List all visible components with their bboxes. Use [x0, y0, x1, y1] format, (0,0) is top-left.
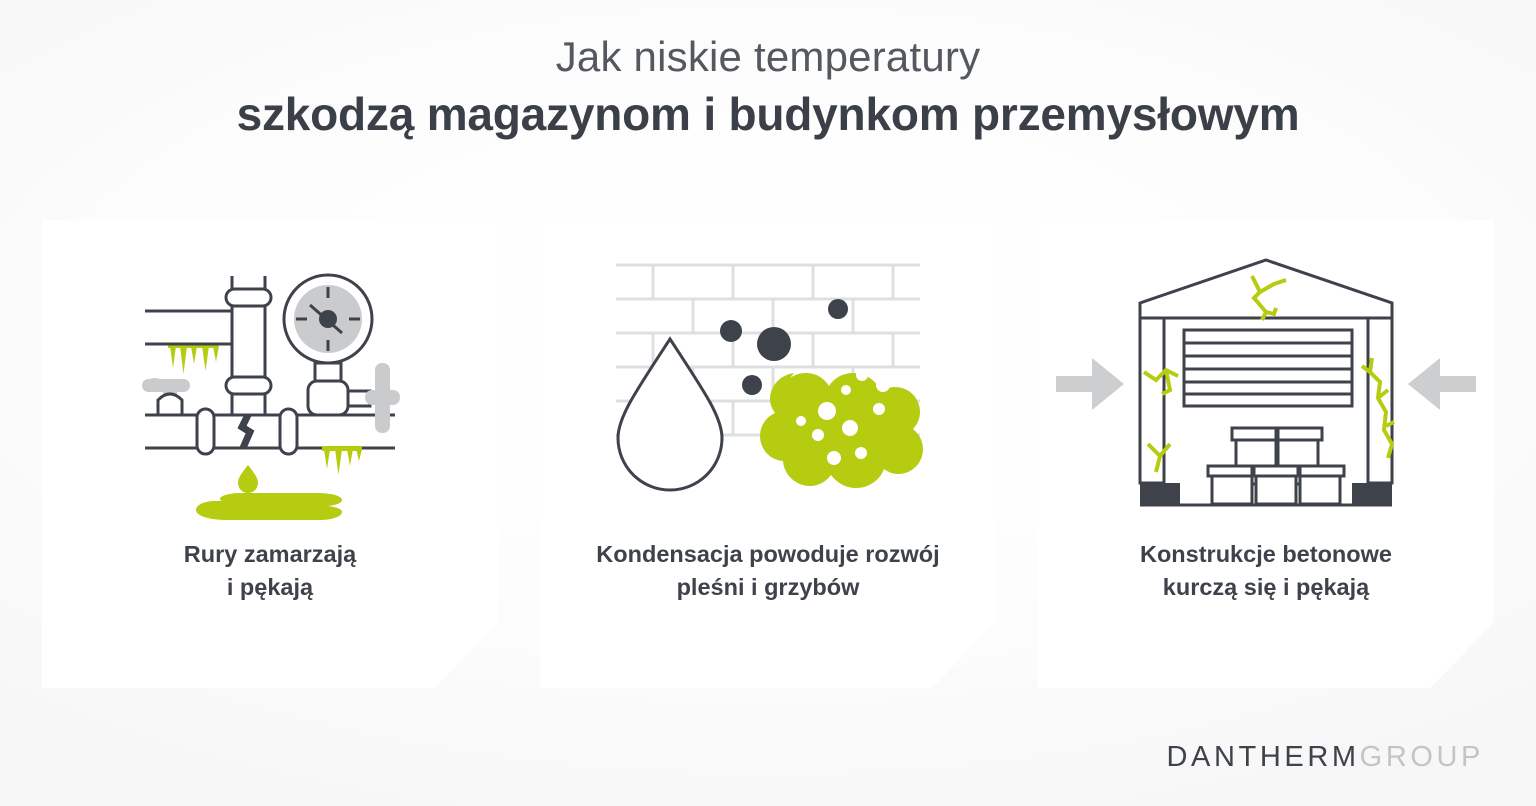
- cracked-warehouse-icon: [1056, 248, 1476, 518]
- water-drop: [238, 465, 258, 493]
- card-frozen-pipes-art: [42, 220, 498, 538]
- mould-on-wall-icon: [598, 253, 938, 513]
- card-frozen-pipes-caption: Rury zamarzają i pękają: [158, 538, 382, 605]
- pressure-gauge-icon: [284, 275, 372, 381]
- caption-line-2: kurczą się i pękają: [1163, 574, 1369, 600]
- compression-arrow-right: [1408, 358, 1476, 410]
- logo-primary-text: DANTHERM: [1167, 741, 1360, 773]
- cards-row: Rury zamarzają i pękają: [42, 220, 1494, 690]
- dantherm-group-logo: DANTHERMGROUP: [1167, 741, 1484, 774]
- page-title-line-1: Jak niskie temperatury: [0, 34, 1536, 80]
- shutter-door: [1184, 330, 1352, 406]
- page-title-line-2: szkodzą magazynom i budynkom przemysłowy…: [0, 86, 1536, 144]
- infographic-canvas: Jak niskie temperatury szkodzą magazynom…: [0, 0, 1536, 806]
- card-condensation-mould-caption: Kondensacja powoduje rozwój pleśni i grz…: [570, 538, 965, 605]
- mould-blob: [760, 369, 923, 488]
- water-droplet-outline: [618, 339, 722, 490]
- caption-line-1: Konstrukcje betonowe: [1140, 541, 1392, 567]
- small-valve: [142, 378, 190, 415]
- card-frozen-pipes[interactable]: Rury zamarzają i pękają: [42, 220, 498, 688]
- caption-line-2: pleśni i grzybów: [677, 574, 860, 600]
- frost-drips-upper: [168, 344, 219, 374]
- card-condensation-mould-art: [540, 220, 996, 538]
- caption-line-1: Rury zamarzają: [184, 541, 356, 567]
- burst-pipe-icon: [120, 243, 420, 523]
- card-concrete-cracking-caption: Konstrukcje betonowe kurczą się i pękają: [1114, 538, 1418, 605]
- pipe-crack: [242, 415, 250, 448]
- card-condensation-mould[interactable]: Kondensacja powoduje rozwój pleśni i grz…: [540, 220, 996, 688]
- water-puddle: [196, 493, 342, 520]
- compression-arrow-left: [1056, 358, 1124, 410]
- card-concrete-cracking-art: [1038, 220, 1494, 538]
- logo-secondary-text: GROUP: [1360, 741, 1484, 773]
- frost-drips-lower: [322, 446, 362, 475]
- caption-line-1: Kondensacja powoduje rozwój: [596, 541, 939, 567]
- header: Jak niskie temperatury szkodzą magazynom…: [0, 34, 1536, 144]
- card-concrete-cracking[interactable]: Konstrukcje betonowe kurczą się i pękają: [1038, 220, 1494, 688]
- caption-line-2: i pękają: [227, 574, 313, 600]
